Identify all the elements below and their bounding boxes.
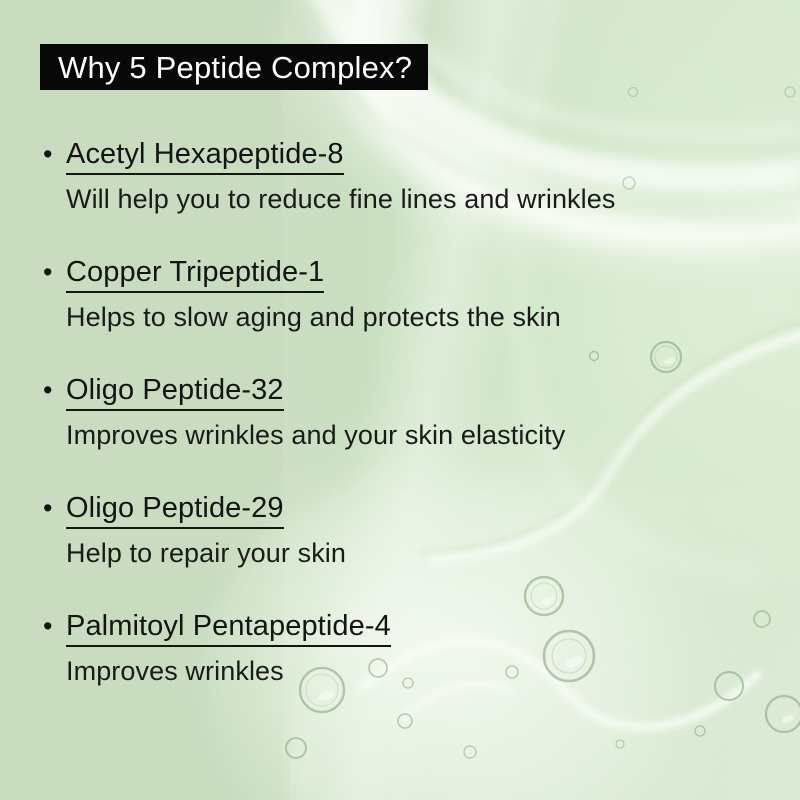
bullet-marker-icon: • bbox=[40, 372, 66, 408]
peptide-name: Copper Tripeptide-1 bbox=[66, 254, 324, 293]
title-banner: Why 5 Peptide Complex? bbox=[40, 44, 428, 90]
peptide-name: Acetyl Hexapeptide-8 bbox=[66, 136, 344, 175]
peptide-name: Oligo Peptide-32 bbox=[66, 372, 284, 411]
bullet-marker-icon: • bbox=[40, 490, 66, 526]
peptide-description: Improves wrinkles bbox=[66, 654, 760, 688]
list-item: • Palmitoyl Pentapeptide-4 Improves wrin… bbox=[40, 608, 760, 688]
peptide-description: Improves wrinkles and your skin elastici… bbox=[66, 418, 760, 452]
peptide-description: Will help you to reduce fine lines and w… bbox=[66, 182, 760, 216]
peptide-list: • Acetyl Hexapeptide-8 Will help you to … bbox=[40, 136, 760, 688]
peptide-description: Help to repair your skin bbox=[66, 536, 760, 570]
list-item: • Acetyl Hexapeptide-8 Will help you to … bbox=[40, 136, 760, 216]
list-item: • Oligo Peptide-29 Help to repair your s… bbox=[40, 490, 760, 570]
peptide-name: Palmitoyl Pentapeptide-4 bbox=[66, 608, 391, 647]
peptide-name: Oligo Peptide-29 bbox=[66, 490, 284, 529]
list-item: • Copper Tripeptide-1 Helps to slow agin… bbox=[40, 254, 760, 334]
list-item: • Oligo Peptide-32 Improves wrinkles and… bbox=[40, 372, 760, 452]
page-title: Why 5 Peptide Complex? bbox=[58, 52, 412, 83]
peptide-description: Helps to slow aging and protects the ski… bbox=[66, 300, 760, 334]
bullet-marker-icon: • bbox=[40, 608, 66, 644]
bullet-marker-icon: • bbox=[40, 136, 66, 172]
bullet-marker-icon: • bbox=[40, 254, 66, 290]
peptide-complex-poster: Why 5 Peptide Complex? • Acetyl Hexapept… bbox=[0, 0, 800, 800]
